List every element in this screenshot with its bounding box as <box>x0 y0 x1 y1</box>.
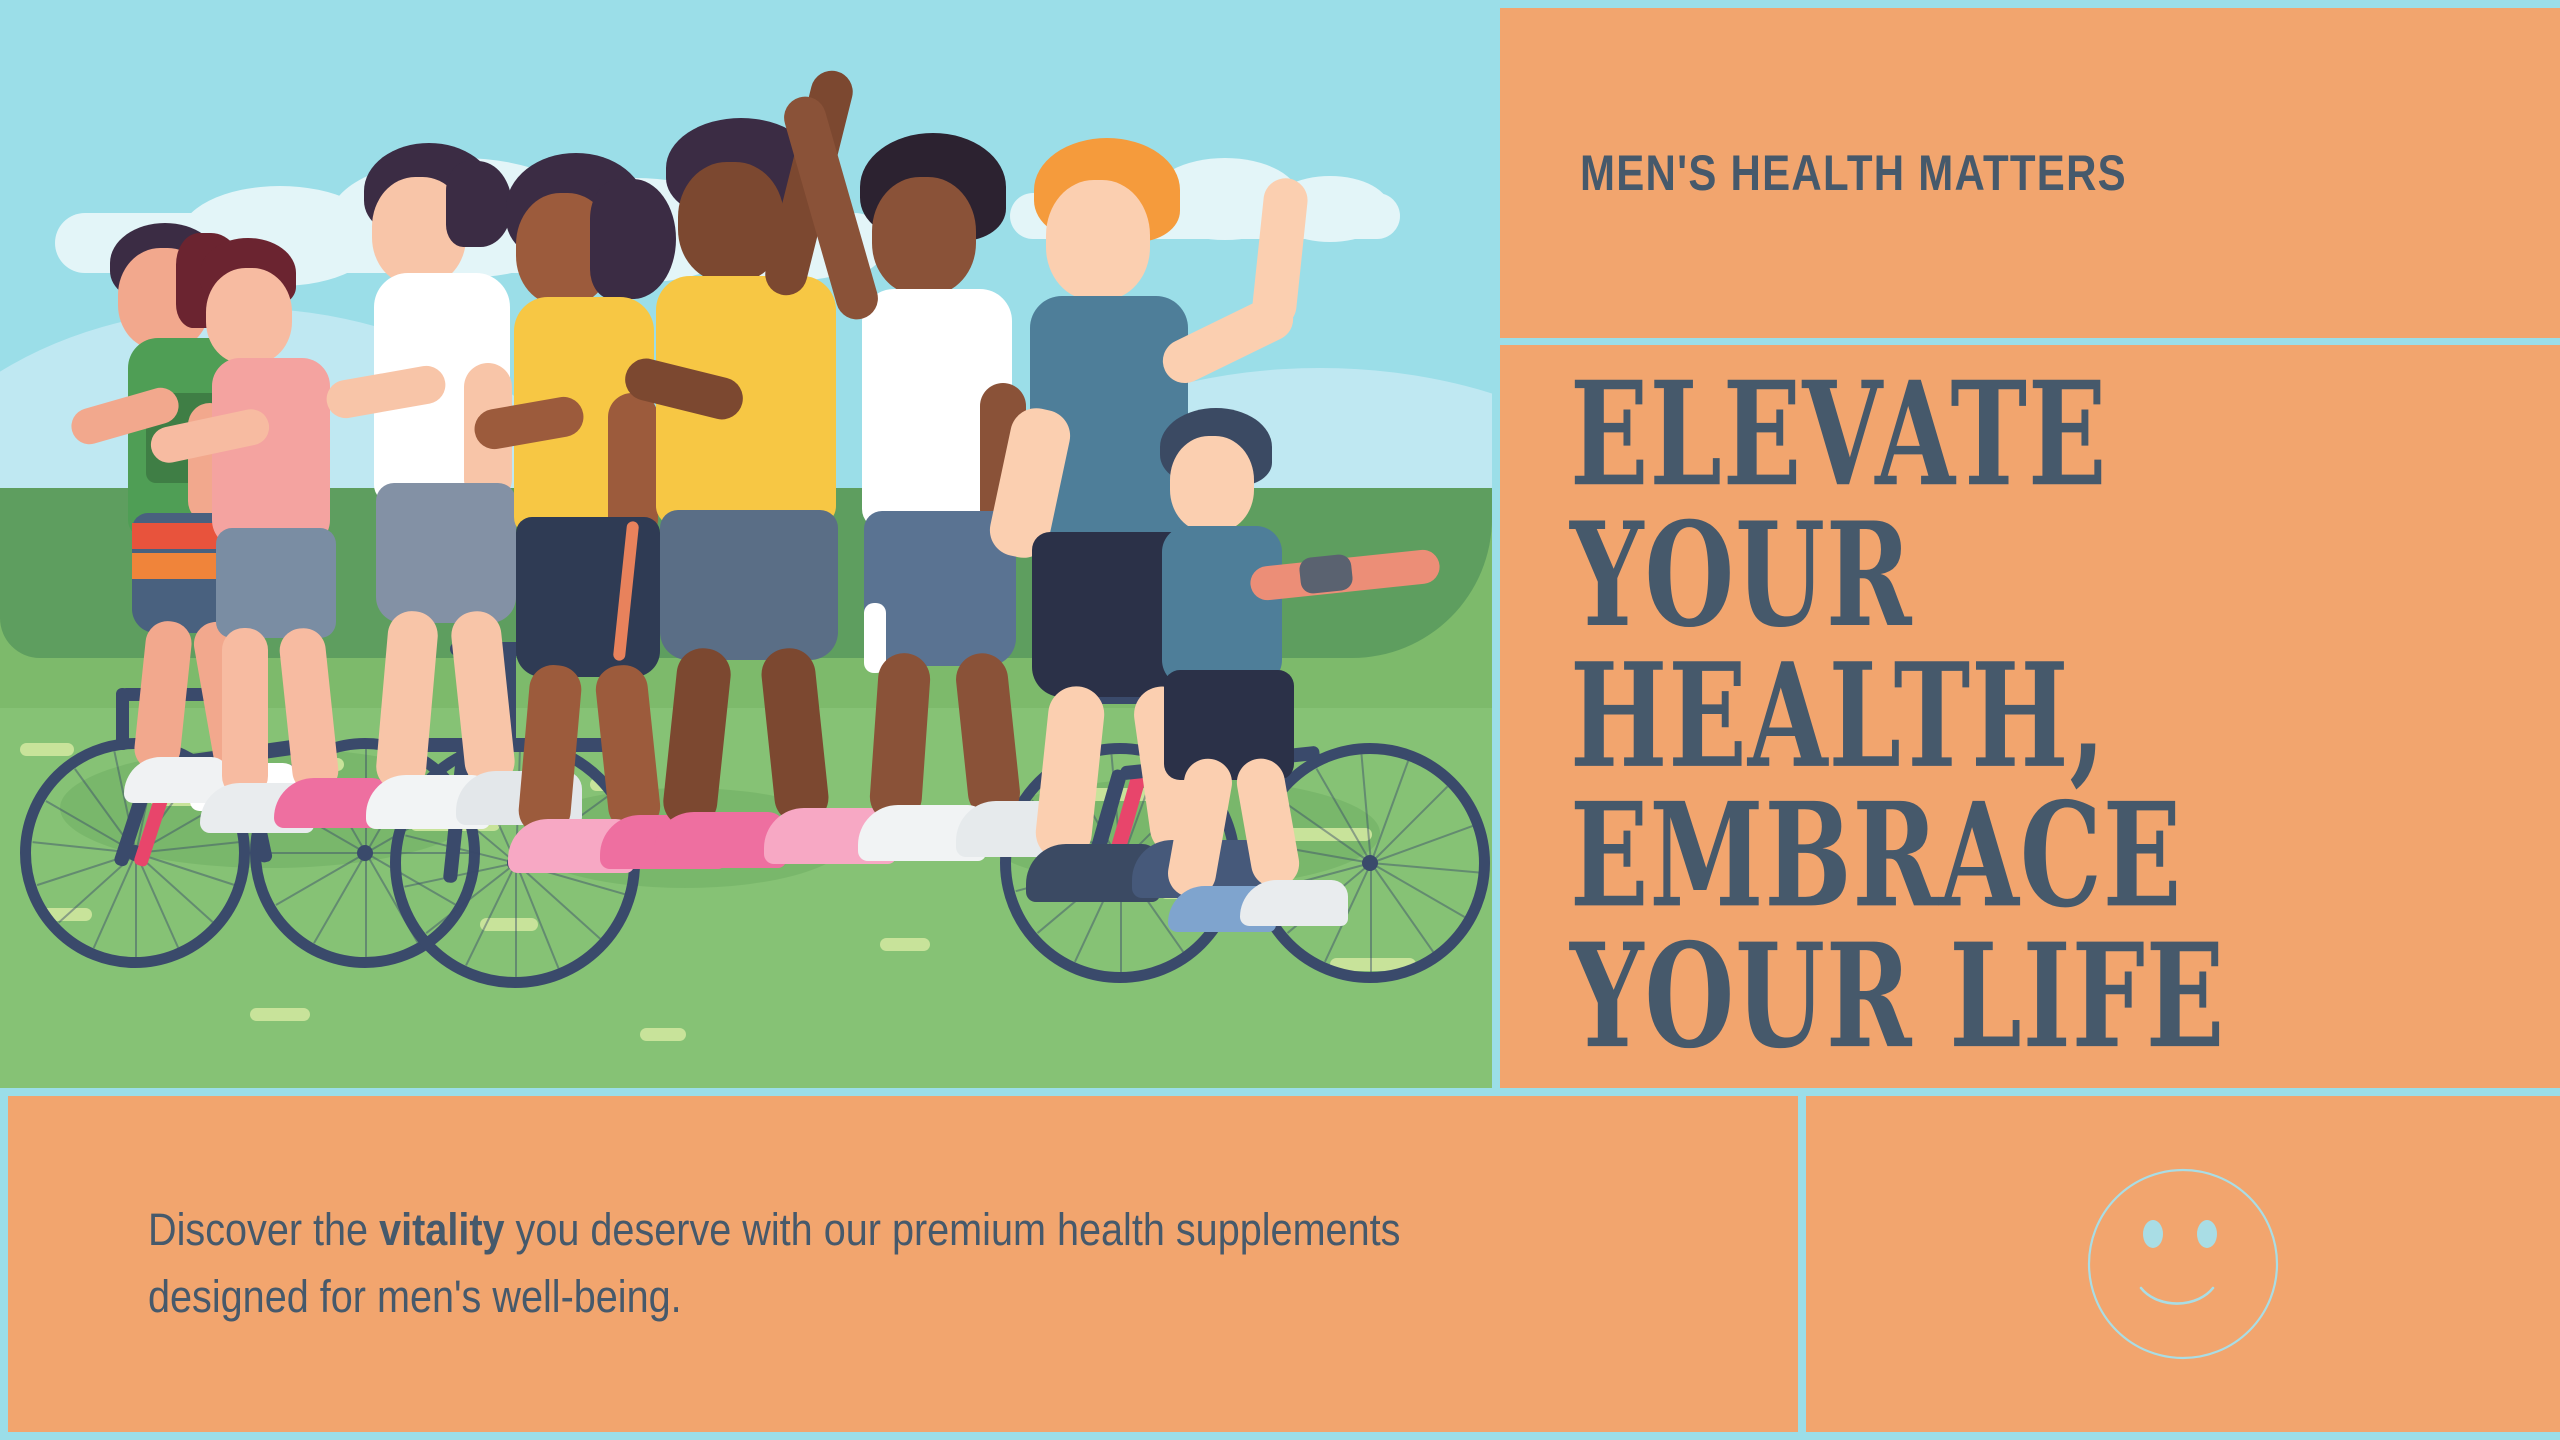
body-copy-before: Discover the <box>148 1204 379 1255</box>
hero-illustration <box>0 8 1492 1088</box>
eyebrow-text: MEN'S HEALTH MATTERS <box>1580 144 2127 202</box>
body-copy-highlight: vitality <box>379 1204 504 1255</box>
body-copy-text: Discover the vitality you deserve with o… <box>148 1197 1521 1330</box>
headline-text: ELEVATE YOUR HEALTH, EMBRACE YOUR LIFE <box>1570 365 2481 1067</box>
panel-eyebrow: MEN'S HEALTH MATTERS <box>1500 8 2560 338</box>
panel-brand-mark <box>1806 1096 2560 1432</box>
panel-body-copy: Discover the vitality you deserve with o… <box>8 1096 1798 1432</box>
panel-headline: ELEVATE YOUR HEALTH, EMBRACE YOUR LIFE <box>1500 345 2560 1088</box>
smiley-face-icon <box>2083 1164 2283 1364</box>
poster-root: MEN'S HEALTH MATTERS ELEVATE YOUR HEALTH… <box>0 0 2560 1440</box>
